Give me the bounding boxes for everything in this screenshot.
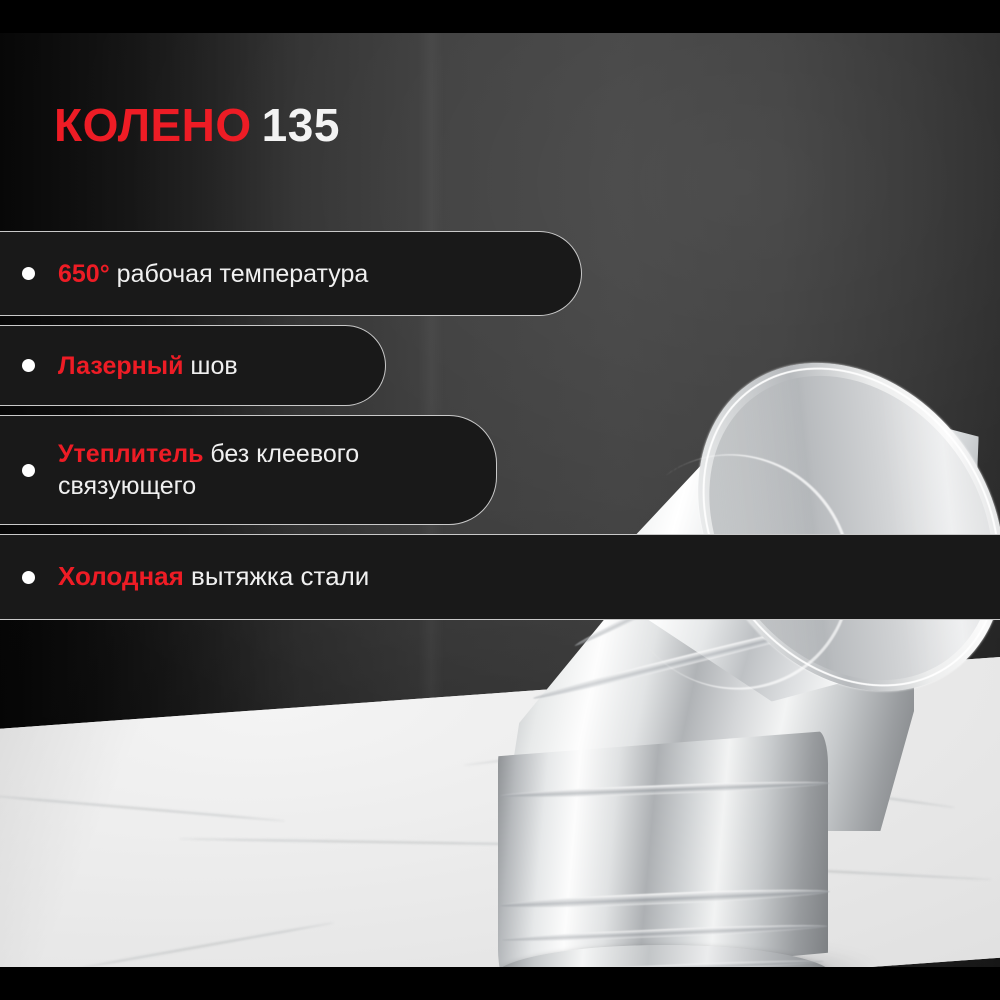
feature-highlight: Лазерный xyxy=(58,352,183,380)
feature-item-laser-seam: Лазерный шов xyxy=(0,325,386,406)
feature-text: Лазерный шов xyxy=(58,350,238,382)
feature-item-insulation: Утеплитель без клеевого связующего xyxy=(0,415,497,525)
feature-text: Утеплитель без клеевого связующего xyxy=(58,438,496,502)
feature-highlight: Холодная xyxy=(58,561,184,591)
feature-rest: рабочая температура xyxy=(110,260,369,288)
letterbox-band-top xyxy=(0,0,1000,33)
feature-list: 650° рабочая температура Лазерный шов Ут… xyxy=(0,231,640,629)
bullet-dot-icon xyxy=(22,359,35,372)
feature-highlight: Утеплитель xyxy=(58,440,203,468)
feature-text: 650° рабочая температура xyxy=(58,258,368,290)
letterbox-band-bottom xyxy=(0,967,1000,1000)
feature-rest: вытяжка стали xyxy=(184,561,370,591)
feature-text: Холодная вытяжка стали xyxy=(58,560,369,593)
page-title: КОЛЕНО135 xyxy=(54,102,340,148)
feature-highlight: 650° xyxy=(58,260,110,288)
feature-item-cold-drawn-steel: Холодная вытяжка стали xyxy=(0,534,1000,620)
title-brand-word: КОЛЕНО xyxy=(54,99,252,151)
feature-item-temperature: 650° рабочая температура xyxy=(0,231,582,316)
product-card: КОЛЕНО135 650° рабочая температура Лазер… xyxy=(0,0,1000,1000)
title-model-number: 135 xyxy=(252,99,340,151)
bullet-dot-icon xyxy=(22,464,35,477)
bullet-dot-icon xyxy=(22,267,35,280)
marble-vein xyxy=(0,794,285,822)
marble-vein xyxy=(78,922,334,967)
bullet-dot-icon xyxy=(22,571,35,584)
feature-rest: шов xyxy=(183,352,237,380)
